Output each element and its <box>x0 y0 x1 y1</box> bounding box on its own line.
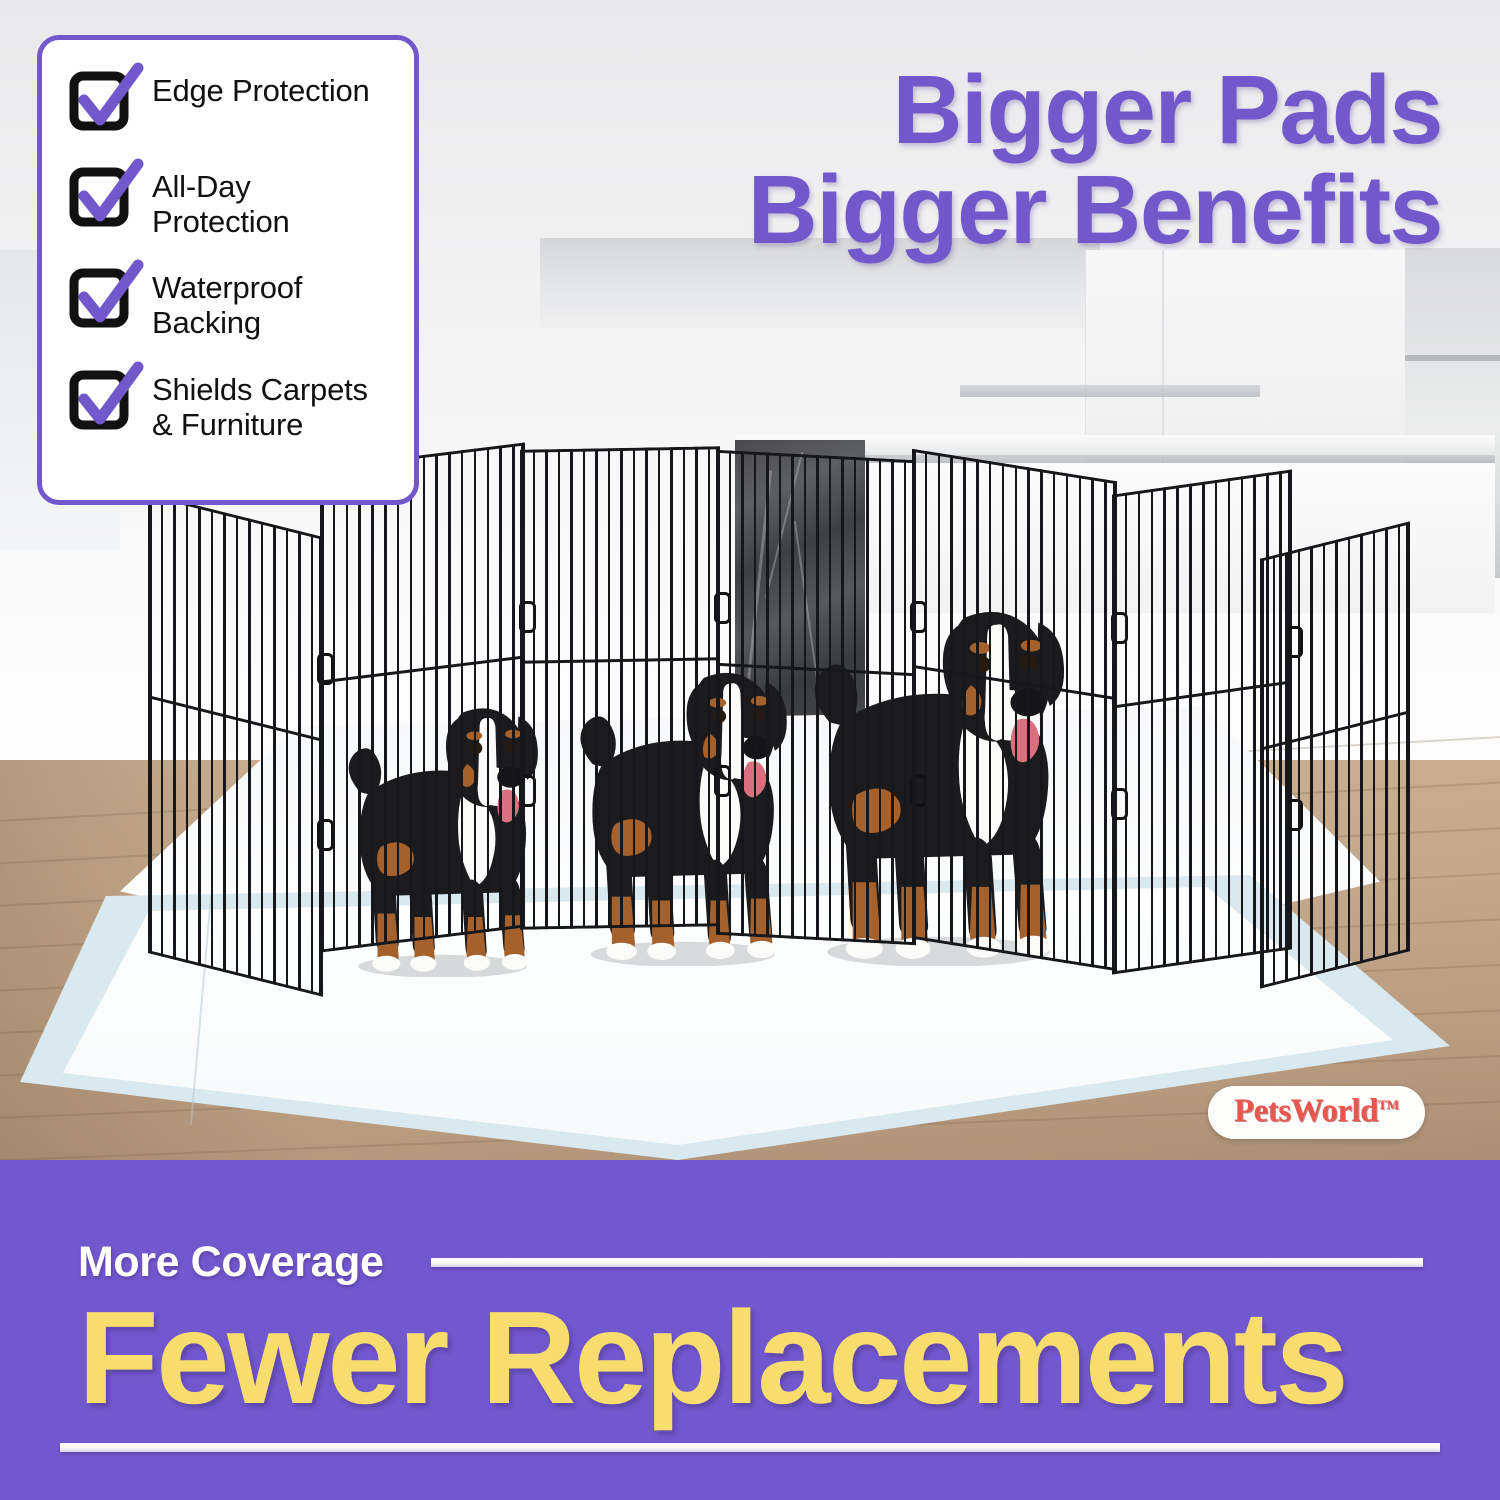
playpen-panel <box>320 442 525 952</box>
page-title: Bigger Pads Bigger Benefits <box>582 60 1442 260</box>
playpen-panel <box>520 446 720 929</box>
checkbox-check-icon <box>68 369 136 437</box>
checkbox-check-icon <box>68 267 136 335</box>
feature-item: Waterproof Backing <box>68 265 394 340</box>
playpen-panel <box>148 493 323 997</box>
mirror-shelf <box>1405 355 1500 361</box>
feature-item: Shields Carpets & Furniture <box>68 367 394 442</box>
banner-subhead-row: More Coverage <box>78 1238 1423 1287</box>
brand-logo: PetsWorldTM <box>1208 1086 1425 1139</box>
banner-subhead: More Coverage <box>78 1238 383 1287</box>
playpen-panel <box>1260 521 1410 988</box>
pet-playpen <box>0 420 1500 1100</box>
headline-line-1: Bigger Pads <box>893 55 1443 164</box>
trademark-mark: TM <box>1378 1097 1399 1112</box>
feature-item: Edge Protection <box>68 68 394 138</box>
checkbox-check-icon <box>68 70 136 138</box>
banner-headline: Fewer Replacements <box>78 1292 1428 1424</box>
feature-item-label: All-Day Protection <box>152 164 394 239</box>
feature-list-card: Edge ProtectionAll-Day ProtectionWaterpr… <box>37 35 419 505</box>
checkbox-check-icon <box>68 166 136 234</box>
feature-item: All-Day Protection <box>68 164 394 239</box>
playpen-panel <box>716 450 916 945</box>
glass-shelf <box>960 385 1260 397</box>
brand-name: PetsWorld <box>1234 1093 1378 1129</box>
brand-logo-text: PetsWorldTM <box>1234 1093 1399 1129</box>
headline-line-2: Bigger Benefits <box>582 160 1442 260</box>
playpen-panel <box>912 449 1117 971</box>
product-photo-scene: Edge ProtectionAll-Day ProtectionWaterpr… <box>0 0 1500 1165</box>
banner-rule-bottom <box>60 1443 1440 1452</box>
feature-item-label: Edge Protection <box>152 68 370 109</box>
banner-rule-top <box>431 1258 1423 1267</box>
feature-item-label: Shields Carpets & Furniture <box>152 367 394 442</box>
product-marketing-image: Edge ProtectionAll-Day ProtectionWaterpr… <box>0 0 1500 1500</box>
feature-item-label: Waterproof Backing <box>152 265 394 340</box>
